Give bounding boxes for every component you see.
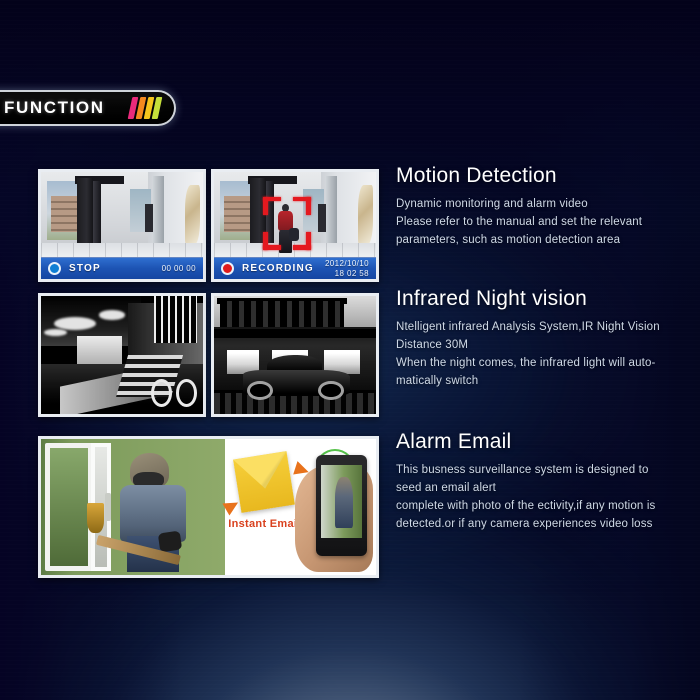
- feature-line: detected.or if any camera experiences vi…: [396, 515, 696, 533]
- feature-infrared-night-vision: Infrared Night vision Ntelligent infrare…: [396, 287, 696, 390]
- stop-dot-icon: [48, 262, 61, 275]
- burglar-scene: [41, 439, 225, 575]
- feature-line: When the night comes, the infrared light…: [396, 354, 696, 372]
- osd-timecode: 00 00 00: [162, 264, 196, 273]
- screenshot-motion-stop: STOP 00 00 00: [38, 169, 206, 282]
- phone-screen: [321, 465, 362, 537]
- bicycle: [151, 372, 196, 407]
- osd-time-value: 18 02 58: [335, 269, 369, 278]
- door-handle: [105, 493, 111, 520]
- feature-line: Please refer to the manual and set the r…: [396, 213, 696, 231]
- screenshot-motion-recording: RECORDING 2012/10/10 18 02 58: [211, 169, 379, 282]
- function-feature-page: FUNCTION STOP 00 00 00: [0, 0, 700, 700]
- feature-title: Alarm Email: [396, 430, 696, 454]
- feature-line: Distance 30M: [396, 336, 696, 354]
- function-banner: FUNCTION: [0, 90, 176, 126]
- osd-status-label: STOP: [69, 263, 101, 274]
- osd-date: 2012/10/10: [325, 259, 369, 268]
- feature-line: matically switch: [396, 372, 696, 390]
- screenshot-alarm-email: Instant Email: [38, 436, 379, 578]
- banner-color-bars-icon: [130, 97, 160, 119]
- record-dot-icon: [221, 262, 234, 275]
- feature-title: Motion Detection: [396, 164, 696, 188]
- feature-alarm-email: Alarm Email This busness surveillance sy…: [396, 430, 696, 533]
- motion-detection-box: [263, 197, 312, 251]
- screenshot-night-car: [211, 293, 379, 417]
- feature-line: This busness surveillance system is desi…: [396, 461, 696, 479]
- osd-status-bar-stop: STOP 00 00 00: [41, 257, 203, 279]
- osd-datetime: 2012/10/10 18 02 58: [325, 259, 369, 277]
- feature-title: Infrared Night vision: [396, 287, 696, 311]
- osd-status-label: RECORDING: [242, 263, 314, 274]
- feature-motion-detection: Motion Detection Dynamic monitoring and …: [396, 164, 696, 249]
- feature-line: Ntelligent infrared Analysis System,IR N…: [396, 318, 696, 336]
- door-keys: [87, 503, 104, 533]
- email-delivery-scene: Instant Email: [225, 439, 376, 575]
- feature-line: parameters, such as motion detection are…: [396, 231, 696, 249]
- alarm-email-illustration: Instant Email: [41, 439, 376, 575]
- night-street-render: [41, 296, 203, 414]
- banner-title: FUNCTION: [4, 98, 105, 118]
- osd-status-bar-recording: RECORDING 2012/10/10 18 02 58: [214, 257, 376, 279]
- feature-line: seed an email alert: [396, 479, 696, 497]
- feature-line: complete with photo of the ectivity,if a…: [396, 497, 696, 515]
- night-car-render: [214, 296, 376, 414]
- instant-email-callout: Instant Email: [228, 518, 300, 530]
- screenshot-night-street: [38, 293, 206, 417]
- smartphone: [316, 455, 367, 556]
- feature-line: Dynamic monitoring and alarm video: [396, 195, 696, 213]
- email-envelope-icon: [233, 451, 295, 513]
- parked-car: [243, 353, 350, 400]
